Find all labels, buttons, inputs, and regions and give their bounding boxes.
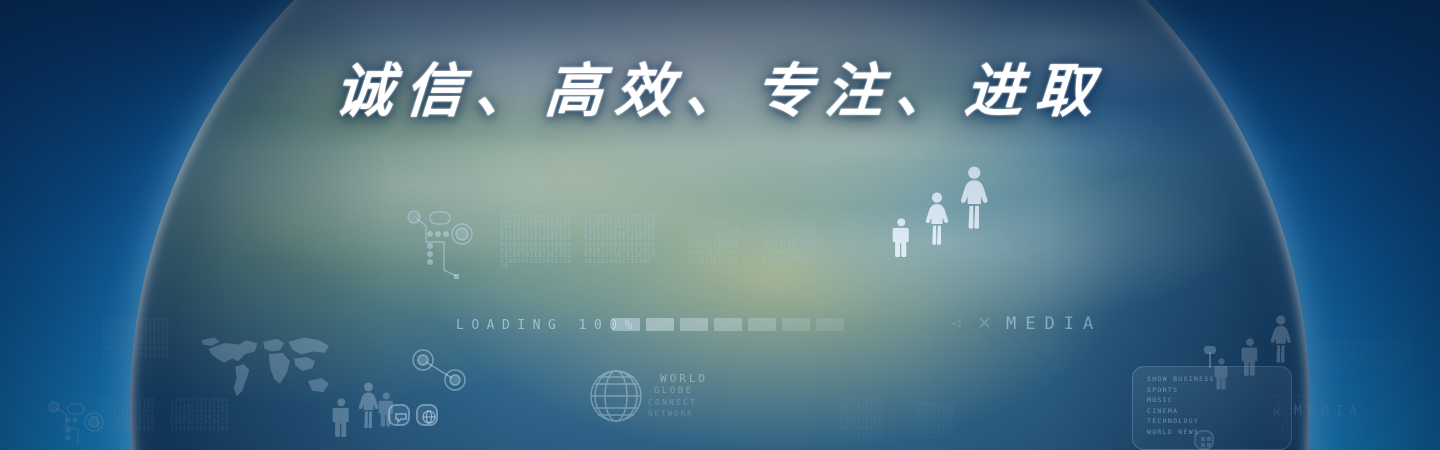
page-title: 诚信、高效、专注、进取 xyxy=(0,62,1440,120)
hero-banner: WORLD GLOBE CONNECT NETWORK 010010111001… xyxy=(0,0,1440,450)
